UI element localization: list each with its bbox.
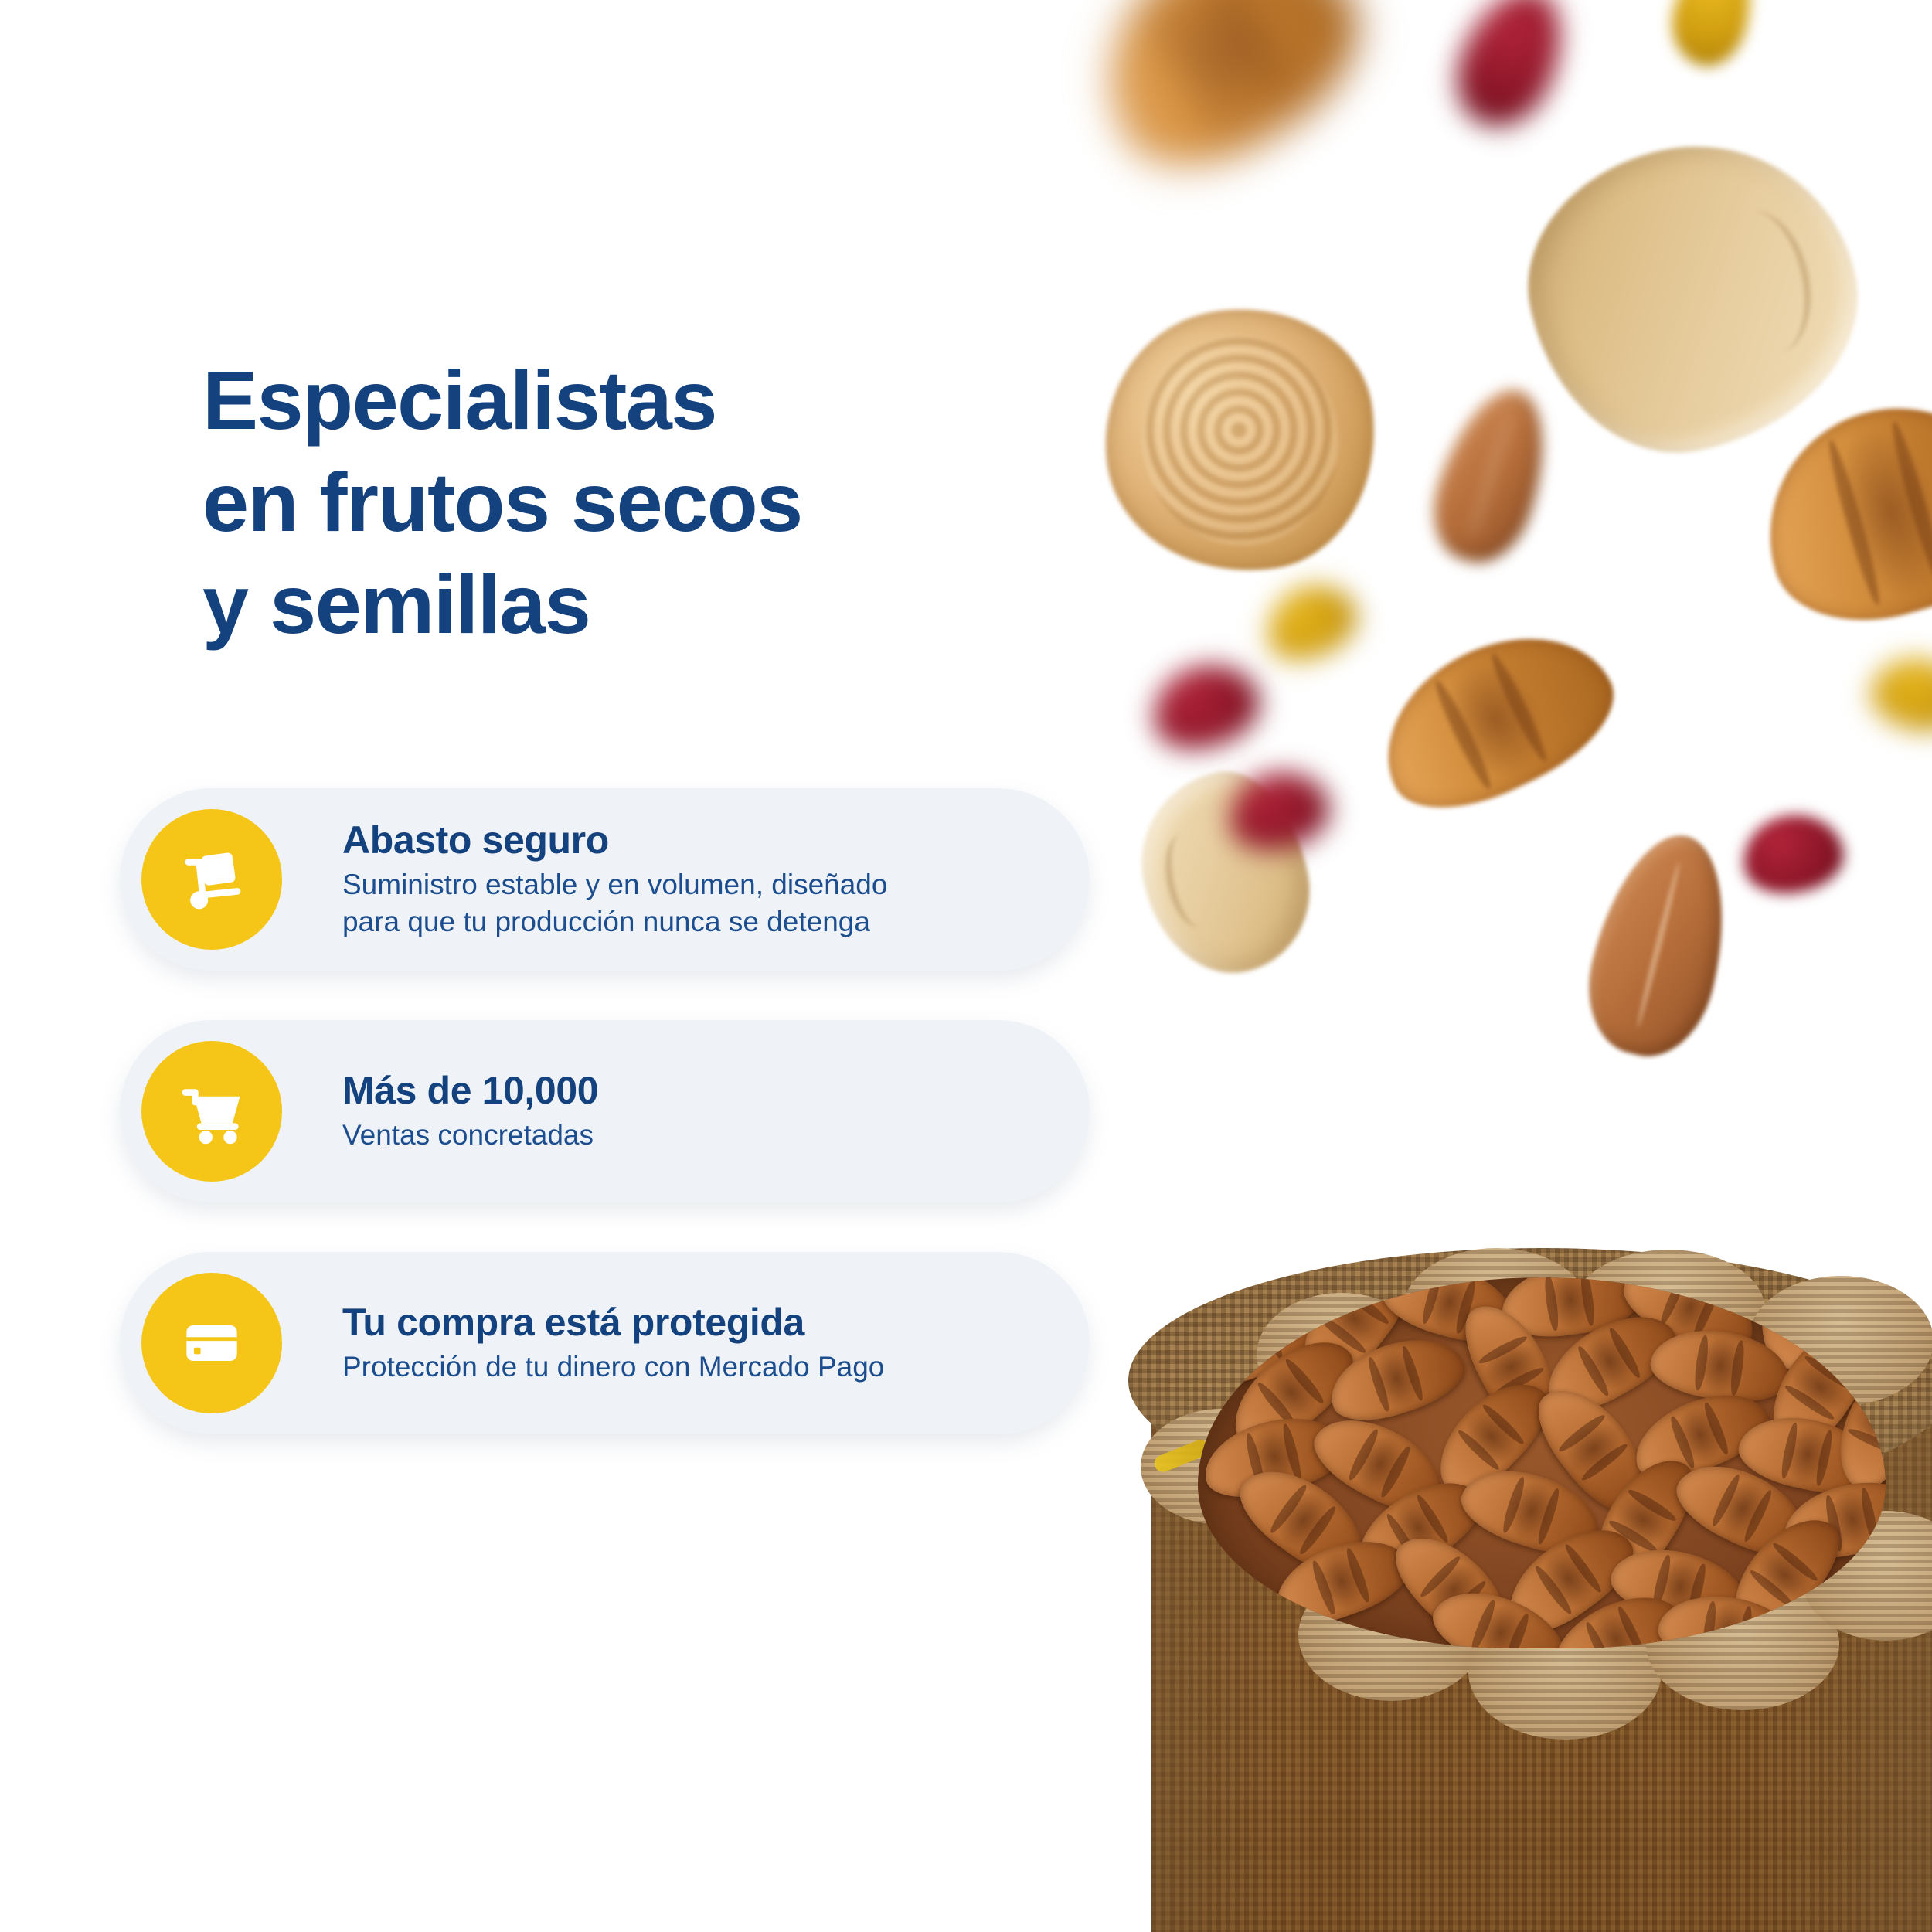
headline-line-2: en frutos secos: [202, 451, 1076, 553]
almond-nut: [1419, 376, 1566, 574]
feature-title: Abasto seguro: [342, 818, 887, 862]
pecan-half-nut: [1356, 602, 1634, 835]
pecan-pile: [1198, 1277, 1886, 1648]
headline-line-3: y semillas: [202, 553, 1076, 655]
feature-text: Abasto seguro Suministro estable y en vo…: [342, 818, 887, 940]
golden-raisin-nut: [1662, 0, 1762, 73]
feature-title: Más de 10,000: [342, 1069, 598, 1112]
headline-line-1: Especialistas: [202, 349, 1076, 451]
feature-text: Más de 10,000 Ventas concretadas: [342, 1069, 598, 1154]
feature-text: Tu compra está protegida Protección de t…: [342, 1301, 884, 1386]
almond-nut: [1573, 821, 1747, 1069]
page-title: Especialistas en frutos secos y semillas: [202, 349, 1076, 655]
cranberry-nut: [1141, 651, 1269, 761]
golden-raisin-nut: [1253, 570, 1367, 673]
feature-icon-badge: [141, 1273, 282, 1413]
feature-card-list: Abasto seguro Suministro estable y en vo…: [120, 788, 1095, 1434]
feature-card-abasto-seguro[interactable]: Abasto seguro Suministro estable y en vo…: [120, 788, 1090, 971]
promo-banner: Especialistas en frutos secos y semillas: [0, 0, 1932, 1932]
feature-subtitle: Ventas concretadas: [342, 1117, 598, 1154]
walnut-half-nut: [1088, 291, 1393, 589]
feature-card-ventas-concretadas[interactable]: Más de 10,000 Ventas concretadas: [120, 1020, 1090, 1202]
cranberry-nut: [1440, 0, 1583, 141]
promo-content: Especialistas en frutos secos y semillas: [0, 0, 1121, 1932]
burlap-sack-of-pecans: [1105, 1140, 1932, 1932]
feature-icon-badge: [141, 809, 282, 950]
cashew-nut: [1504, 117, 1884, 479]
feature-title: Tu compra está protegida: [342, 1301, 884, 1344]
credit-card-icon: [175, 1306, 249, 1380]
feature-subtitle: Suministro estable y en volumen, diseñad…: [342, 866, 887, 940]
golden-raisin-nut: [1866, 650, 1932, 739]
shopping-cart-icon: [175, 1074, 249, 1148]
feature-subtitle: Protección de tu dinero con Mercado Pago: [342, 1349, 884, 1386]
feature-card-compra-protegida[interactable]: Tu compra está protegida Protección de t…: [120, 1252, 1090, 1434]
hand-truck-icon: [175, 842, 249, 917]
feature-icon-badge: [141, 1041, 282, 1182]
cranberry-nut: [1736, 807, 1849, 900]
